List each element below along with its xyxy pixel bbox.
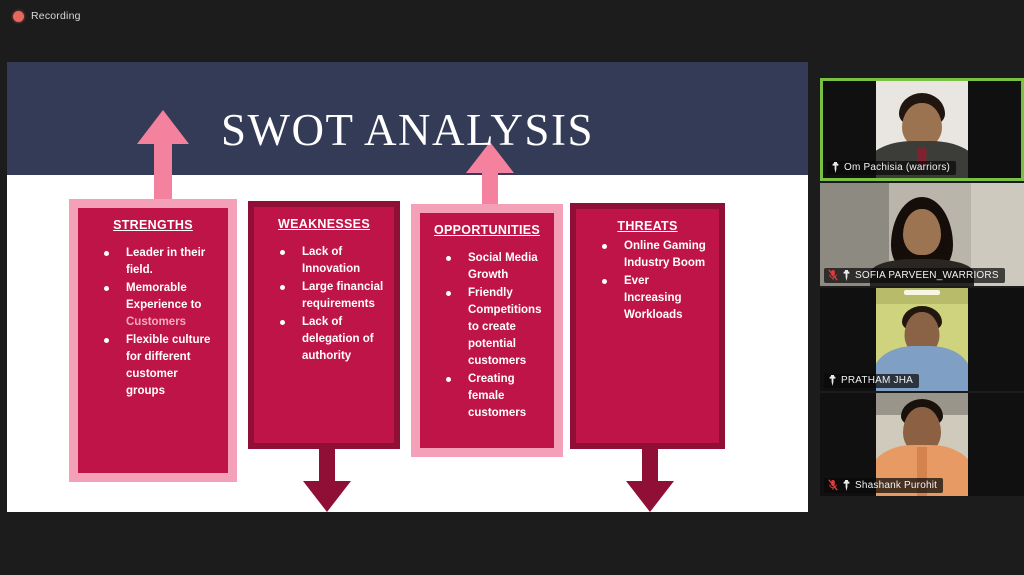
- stage-bottom-area: [0, 512, 1024, 575]
- column-title-strengths: STRENGTHS: [86, 218, 220, 233]
- column-list-strengths: Leader in their field. Memorable Experie…: [86, 245, 220, 400]
- arrow-down-threats: [626, 445, 674, 512]
- pin-icon: [842, 480, 851, 491]
- recording-label: Recording: [31, 10, 81, 22]
- swot-column-threats[interactable]: THREATS Online Gaming Industry Boom Ever…: [570, 203, 725, 449]
- list-item: Creating female customers: [446, 371, 544, 422]
- list-item: Large financial requirements: [280, 279, 384, 313]
- pin-icon: [828, 375, 837, 386]
- participant-name: Shashank Purohit: [855, 480, 937, 491]
- mic-muted-icon: [828, 479, 838, 491]
- column-list-threats: Online Gaming Industry Boom Ever Increas…: [584, 238, 711, 324]
- list-item: Flexible culture for different customer …: [104, 332, 218, 400]
- participant-label: PRATHAM JHA: [824, 374, 919, 388]
- shared-screen-slide[interactable]: SWOT ANALYSIS STRENGTHS Leader in their …: [7, 62, 808, 512]
- record-icon: [13, 11, 24, 22]
- list-item: Lack of Innovation: [280, 244, 384, 278]
- swot-column-strengths[interactable]: STRENGTHS Leader in their field. Memorab…: [69, 199, 237, 482]
- video-tile-pratham-jha[interactable]: PRATHAM JHA: [820, 288, 1024, 391]
- list-item: Leader in their field.: [104, 245, 218, 279]
- mic-muted-icon: [828, 269, 838, 281]
- meeting-window: Recording SWOT ANALYSIS: [0, 0, 1024, 575]
- participant-label: Om Pachisia (warriors): [827, 161, 956, 175]
- column-list-weaknesses: Lack of Innovation Large financial requi…: [262, 244, 386, 365]
- column-title-threats: THREATS: [584, 219, 711, 234]
- column-title-opportunities: OPPORTUNITIES: [428, 223, 546, 238]
- participant-label: SOFIA PARVEEN_WARRIORS: [824, 268, 1005, 283]
- recording-indicator[interactable]: Recording: [13, 8, 81, 24]
- video-tile-sofia-parveen[interactable]: SOFIA PARVEEN_WARRIORS: [820, 183, 1024, 286]
- participant-filmstrip[interactable]: Om Pachisia (warriors): [820, 78, 1024, 498]
- slide-title: SWOT ANALYSIS: [7, 108, 808, 153]
- participant-name: SOFIA PARVEEN_WARRIORS: [855, 270, 999, 281]
- participant-name: Om Pachisia (warriors): [844, 162, 950, 173]
- swot-column-opportunities[interactable]: OPPORTUNITIES Social Media Growth Friend…: [411, 204, 563, 457]
- pin-icon: [831, 162, 840, 173]
- participant-name: PRATHAM JHA: [841, 375, 913, 386]
- column-title-weaknesses: WEAKNESSES: [262, 217, 386, 232]
- list-item: Ever Increasing Workloads: [602, 273, 709, 324]
- video-tile-shashank-purohit[interactable]: Shashank Purohit: [820, 393, 1024, 496]
- column-list-opportunities: Social Media Growth Friendly Competition…: [428, 250, 546, 422]
- list-item: Memorable Experience to Customers: [104, 280, 218, 331]
- list-item: Lack of delegation of authority: [280, 314, 384, 365]
- list-item: Social Media Growth: [446, 250, 544, 284]
- swot-column-weaknesses[interactable]: WEAKNESSES Lack of Innovation Large fina…: [248, 201, 400, 449]
- participant-label: Shashank Purohit: [824, 478, 943, 493]
- list-item: Online Gaming Industry Boom: [602, 238, 709, 272]
- pin-icon: [842, 270, 851, 281]
- arrow-down-weaknesses: [303, 445, 351, 512]
- list-item: Friendly Competitions to create potentia…: [446, 285, 544, 370]
- video-tile-om-pachisia[interactable]: Om Pachisia (warriors): [820, 78, 1024, 181]
